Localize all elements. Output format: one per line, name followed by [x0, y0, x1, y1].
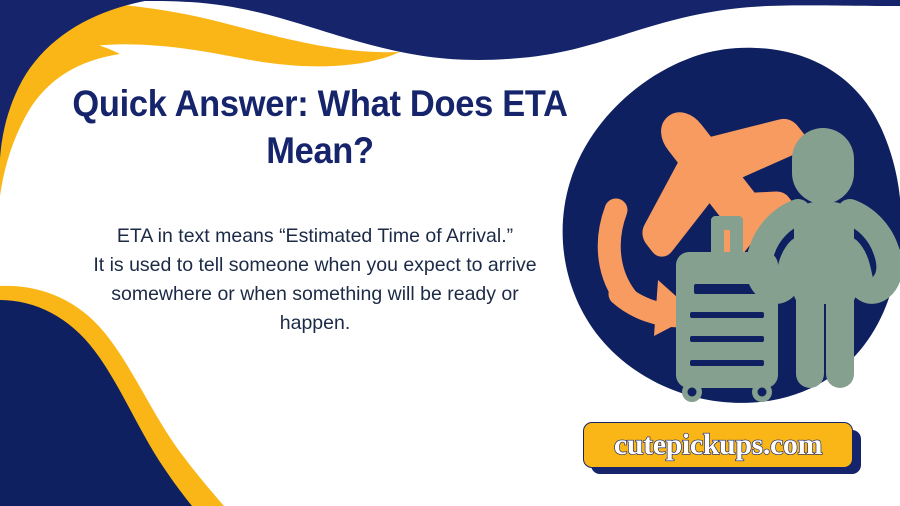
suitcase-stripe [690, 336, 764, 342]
body-paragraph-1: ETA in text means “Estimated Time of Arr… [74, 222, 556, 251]
logo-text: cutepickups.com [614, 428, 822, 462]
suitcase-stripe [690, 360, 764, 366]
suitcase-stripe [690, 312, 764, 318]
body-copy: ETA in text means “Estimated Time of Arr… [74, 222, 556, 338]
infographic-canvas: Quick Answer: What Does ETA Mean? ETA in… [0, 0, 900, 506]
logo-plate: cutepickups.com [583, 422, 853, 468]
page-title: Quick Answer: What Does ETA Mean? [50, 80, 589, 175]
body-paragraph-2: It is used to tell someone when you expe… [74, 251, 556, 338]
site-logo[interactable]: cutepickups.com [583, 422, 861, 474]
travel-illustration [560, 36, 900, 406]
